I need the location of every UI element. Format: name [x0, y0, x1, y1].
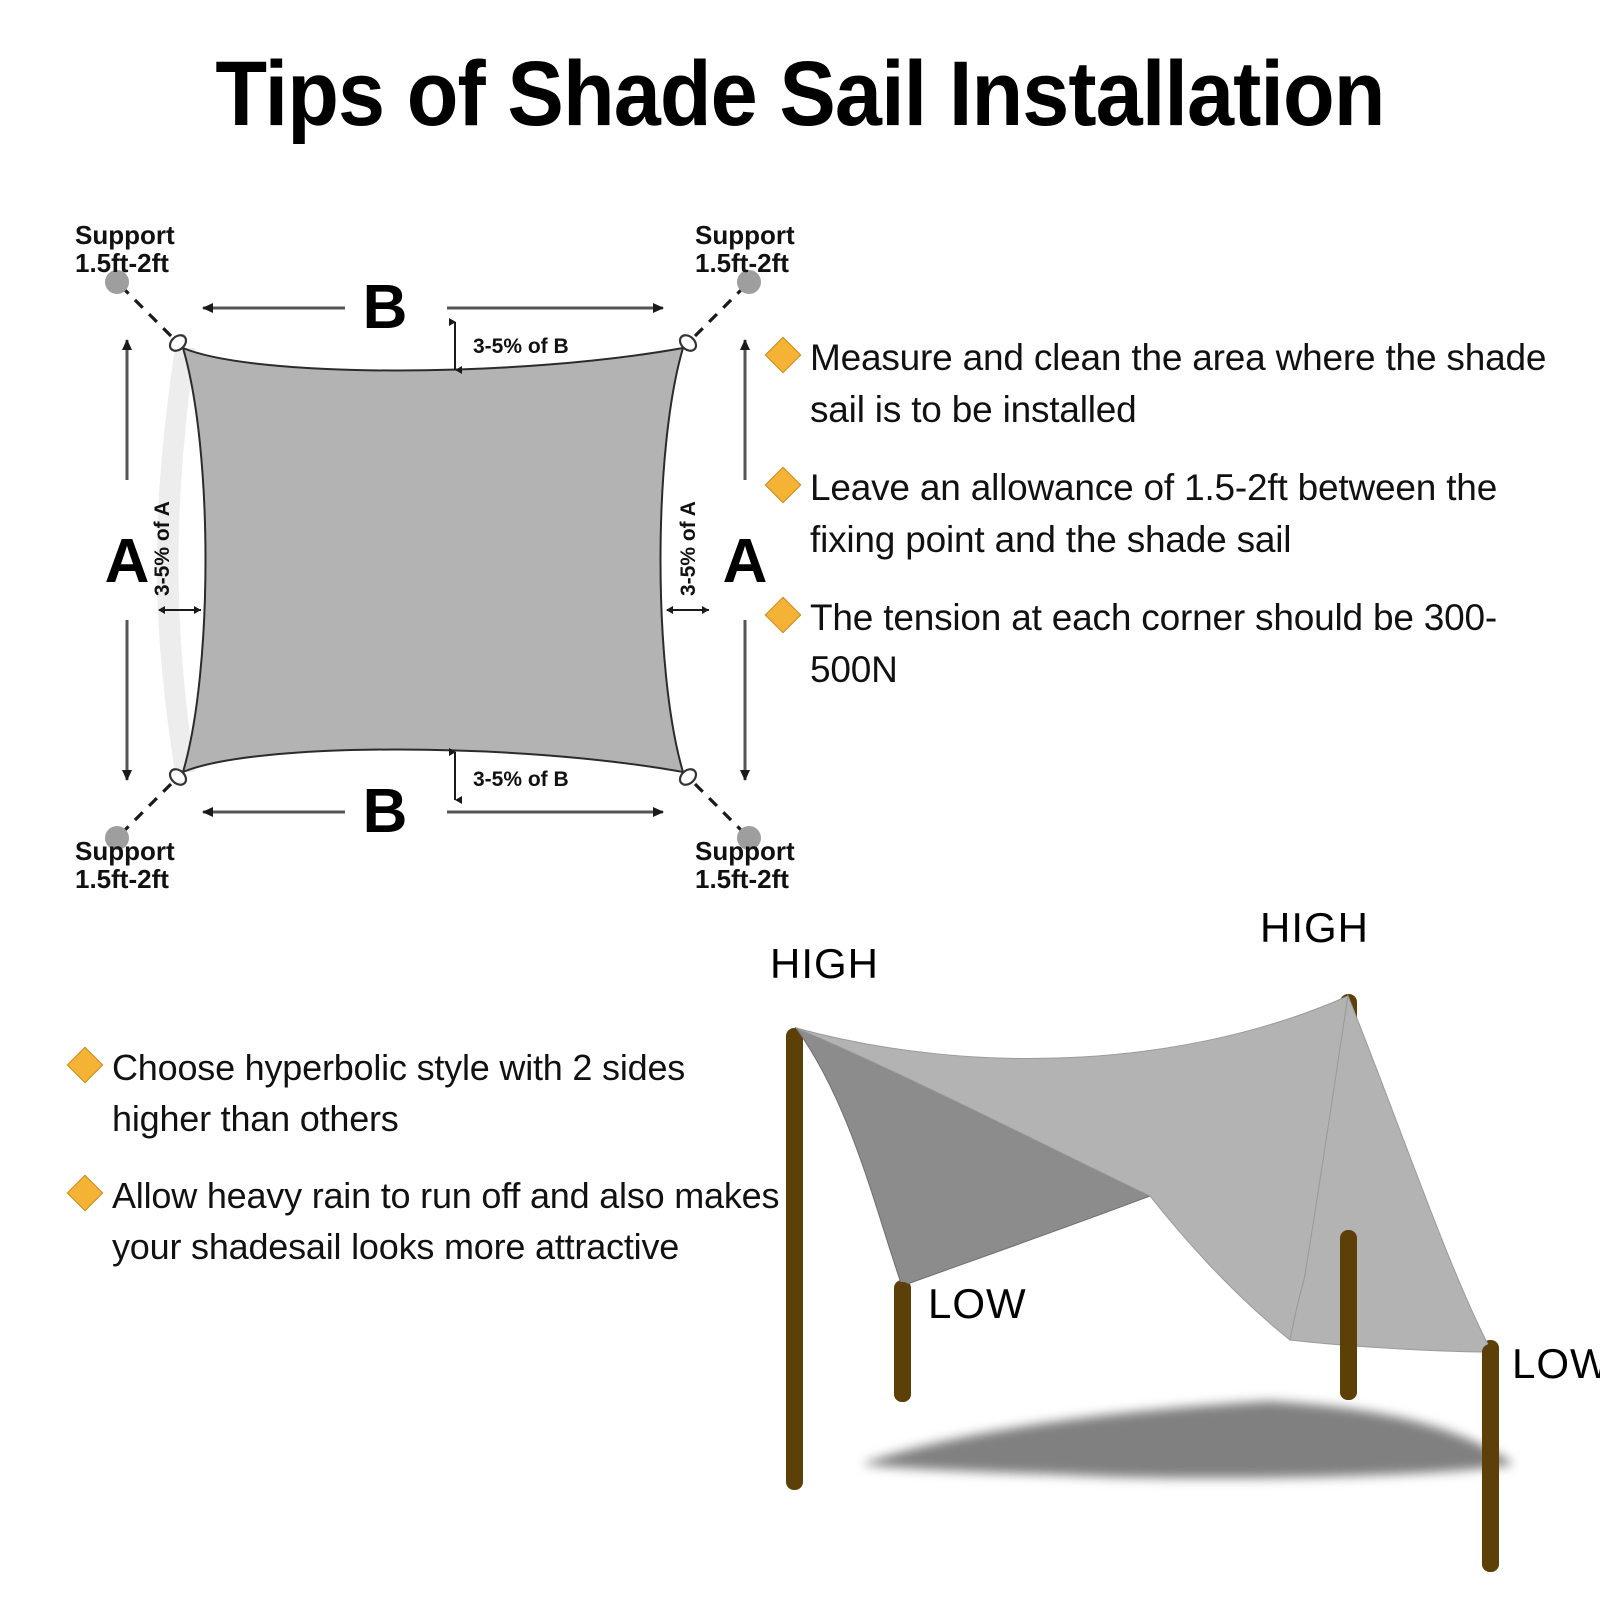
list-item: Measure and clean the area where the sha… — [770, 332, 1560, 436]
support-label-bottom-right: Support 1.5ft-2ft — [695, 836, 795, 894]
post-front-right-overlay — [1482, 1344, 1499, 1572]
dimension-a-right-label: A — [723, 527, 768, 596]
installation-tips-top: Measure and clean the area where the sha… — [770, 332, 1560, 722]
support-label-line2: 1.5ft-2ft — [695, 864, 789, 894]
curve-allowance-b-top: 3-5% of B — [455, 322, 569, 370]
support-label-line1: Support — [695, 220, 795, 250]
support-label-top-right: Support 1.5ft-2ft — [695, 220, 795, 278]
square-sail-body — [183, 348, 683, 772]
label-low-left: LOW — [928, 1280, 1027, 1327]
curve-allowance-b-bottom: 3-5% of B — [455, 752, 569, 800]
diamond-bullet-icon — [765, 597, 802, 634]
dimension-b-bottom: B — [203, 777, 663, 846]
hyperbolic-sail-diagram: HIGH HIGH LOW LOW — [760, 900, 1600, 1600]
support-label-line2: 1.5ft-2ft — [695, 248, 789, 278]
label-low-right: LOW — [1512, 1340, 1600, 1387]
square-sail-diagram: Support 1.5ft-2ft Support 1.5ft-2ft Supp… — [55, 200, 815, 900]
curve-allowance-a-right-label: 3-5% of A — [677, 501, 700, 596]
support-label-bottom-left: Support 1.5ft-2ft — [75, 836, 175, 894]
tip-text: Leave an allowance of 1.5-2ft between th… — [810, 462, 1560, 566]
dimension-b-top: B — [203, 273, 663, 342]
support-label-line1: Support — [75, 836, 175, 866]
diamond-bullet-icon — [765, 337, 802, 374]
curve-allowance-a-right: 3-5% of A — [667, 501, 709, 610]
list-item: Leave an allowance of 1.5-2ft between th… — [770, 462, 1560, 566]
post-back-left — [786, 1028, 803, 1490]
tip-text: Measure and clean the area where the sha… — [810, 332, 1560, 436]
dimension-b-bottom-label: B — [363, 777, 408, 846]
page-title: Tips of Shade Sail Installation — [64, 42, 1536, 146]
dimension-a-left: A — [105, 340, 150, 780]
list-item: Allow heavy rain to run off and also mak… — [72, 1170, 782, 1272]
support-label-line2: 1.5ft-2ft — [75, 864, 169, 894]
curve-allowance-a-left-label: 3-5% of A — [151, 501, 174, 596]
tip-text: Allow heavy rain to run off and also mak… — [112, 1170, 782, 1272]
label-high-right: HIGH — [1260, 904, 1369, 951]
dimension-a-left-label: A — [105, 527, 150, 596]
curve-allowance-b-top-label: 3-5% of B — [473, 335, 569, 358]
list-item: The tension at each corner should be 300… — [770, 592, 1560, 696]
post-front-left-overlay — [894, 1282, 911, 1402]
label-high-left: HIGH — [770, 940, 879, 987]
installation-tips-bottom: Choose hyperbolic style with 2 sides hig… — [72, 1042, 782, 1298]
ground-shadow — [861, 1401, 1514, 1478]
curve-allowance-b-bottom-label: 3-5% of B — [473, 768, 569, 791]
tip-text: The tension at each corner should be 300… — [810, 592, 1560, 696]
dimension-a-right: A — [723, 340, 768, 780]
support-label-line1: Support — [695, 836, 795, 866]
dimension-b-top-label: B — [363, 273, 408, 342]
support-label-top-left: Support 1.5ft-2ft — [75, 220, 175, 278]
support-label-line1: Support — [75, 220, 175, 250]
post-back-right-overlay — [1340, 1230, 1357, 1400]
support-label-line2: 1.5ft-2ft — [75, 248, 169, 278]
tip-text: Choose hyperbolic style with 2 sides hig… — [112, 1042, 782, 1144]
diamond-bullet-icon — [67, 1175, 104, 1212]
diamond-bullet-icon — [67, 1047, 104, 1084]
diamond-bullet-icon — [765, 467, 802, 504]
list-item: Choose hyperbolic style with 2 sides hig… — [72, 1042, 782, 1144]
